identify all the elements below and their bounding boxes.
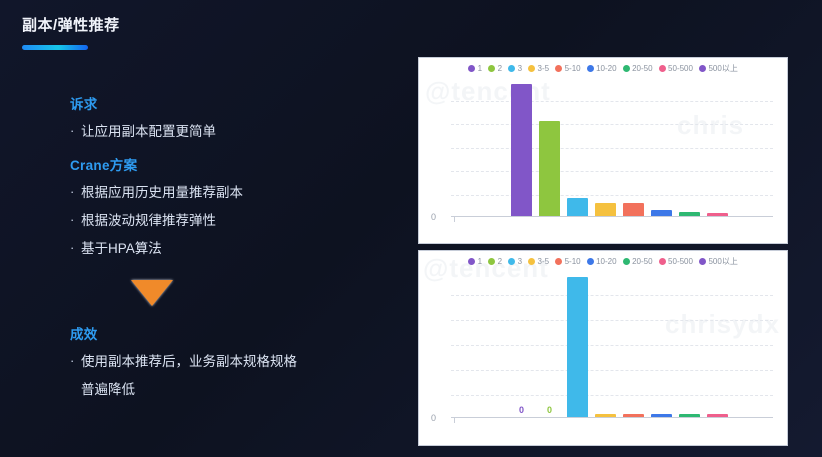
slide-canvas: 副本/弹性推荐 诉求 · 让应用副本配置更简单 Crane方案 · 根据应用历史… [0,0,822,457]
bar-slot[interactable] [567,68,588,216]
down-triangle-shape [131,280,173,306]
bar-slot[interactable] [707,68,728,216]
chart-bars: 00 [451,261,773,417]
bullet-dot-icon: · [70,122,81,140]
bar-slot[interactable]: 0 [539,261,560,417]
demand-bullet-1: 让应用副本配置更简单 [81,122,216,141]
bar-slot[interactable] [651,261,672,417]
bar-slot[interactable] [623,261,644,417]
chart-plot-area: 0 00 [429,270,777,426]
left-content-column: 诉求 · 让应用副本配置更简单 Crane方案 · 根据应用历史用量推荐副本 ·… [70,93,400,267]
chart-bar[interactable] [679,414,700,417]
bar-slot[interactable] [707,261,728,417]
bar-slot[interactable] [595,68,616,216]
x-axis-tick [454,217,455,222]
down-triangle-icon [131,280,173,306]
bar-value-label: 0 [547,405,552,415]
title-block: 副本/弹性推荐 [22,14,120,50]
chart-bar[interactable] [623,414,644,417]
chart-bar[interactable] [651,210,672,216]
bar-slot[interactable] [595,261,616,417]
bar-slot[interactable] [623,68,644,216]
results-heading: 成效 [70,323,410,343]
title-accent-bar [22,45,88,50]
list-item: 普遍降低 [70,380,410,399]
chart-bar[interactable] [623,203,644,216]
chart-bar[interactable] [595,203,616,216]
x-axis-tick [454,418,455,423]
chart-bar[interactable] [595,414,616,417]
bullet-dot-icon: · [70,239,81,257]
chart-bar[interactable] [539,121,560,216]
results-bullet-1-cont: 普遍降低 [81,380,135,399]
list-item: · 让应用副本配置更简单 [70,122,400,141]
bullet-spacer [70,380,81,398]
bullet-dot-icon: · [70,352,81,370]
y-axis-zero-label: 0 [431,413,436,423]
list-item: · 根据波动规律推荐弹性 [70,211,400,230]
bar-slot[interactable] [567,261,588,417]
bullet-dot-icon: · [70,211,81,229]
chart-bar[interactable] [567,198,588,216]
chart-bar[interactable] [651,414,672,417]
solution-heading: Crane方案 [70,154,400,174]
bar-slot[interactable] [679,261,700,417]
results-bullet-1: 使用副本推荐后，业务副本规格规格 [81,352,297,371]
bar-slot[interactable] [679,68,700,216]
bar-slot[interactable] [511,68,532,216]
list-item: · 使用副本推荐后，业务副本规格规格 [70,352,410,371]
x-axis-baseline [451,216,773,217]
demand-heading: 诉求 [70,93,400,113]
chart-bars [451,68,773,216]
chart-bar[interactable] [679,212,700,216]
bar-slot[interactable] [651,68,672,216]
chart-bar[interactable] [707,213,728,216]
solution-bullet-2: 根据波动规律推荐弹性 [81,211,216,230]
y-axis-zero-label: 0 [431,212,436,222]
solution-bullet-3: 基于HPA算法 [81,239,162,258]
chart-bar[interactable] [511,84,532,216]
solution-bullet-1: 根据应用历史用量推荐副本 [81,183,243,202]
bar-value-label: 0 [519,405,524,415]
bar-slot[interactable]: 0 [511,261,532,417]
list-item: · 根据应用历史用量推荐副本 [70,183,400,202]
chart-bar[interactable] [707,414,728,417]
after-recommendation-chart[interactable]: @tencent chrisydx 1233-55-1010-2020-5050… [418,250,788,446]
x-axis-baseline [451,417,773,418]
before-recommendation-chart[interactable]: @tencent chris 1233-55-1010-2020-5050-50… [418,57,788,244]
chart-bar[interactable] [567,277,588,417]
bullet-dot-icon: · [70,183,81,201]
chart-plot-area: 0 [429,77,777,225]
results-block: 成效 · 使用副本推荐后，业务副本规格规格 普遍降低 [70,323,410,408]
page-title: 副本/弹性推荐 [22,14,120,35]
list-item: · 基于HPA算法 [70,239,400,258]
bar-slot[interactable] [539,68,560,216]
